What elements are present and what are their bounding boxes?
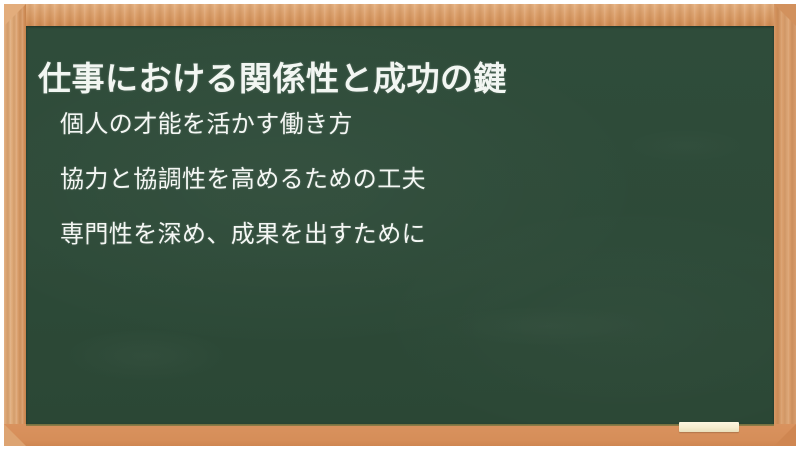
frame-right-rail xyxy=(774,4,796,446)
list-item: 協力と協調性を高めるための工夫 xyxy=(60,165,426,195)
frame-left-rail xyxy=(4,4,26,446)
list-item: 個人の才能を活かす働き方 xyxy=(60,110,426,140)
frame-corner-bottom-left xyxy=(4,424,26,446)
frame-top-rail xyxy=(4,4,796,26)
chalkboard-slide: 仕事における関係性と成功の鍵 個人の才能を活かす働き方 協力と協調性を高めるため… xyxy=(0,0,800,450)
frame-corner-top-left xyxy=(4,4,26,26)
frame-corner-bottom-right xyxy=(774,424,796,446)
wooden-frame: 仕事における関係性と成功の鍵 個人の才能を活かす働き方 協力と協調性を高めるため… xyxy=(4,4,796,446)
chalk-ledge xyxy=(4,424,796,446)
chalk-stick xyxy=(679,422,739,432)
list-item: 専門性を深め、成果を出すために xyxy=(60,220,426,250)
bullet-list: 個人の才能を活かす働き方 協力と協調性を高めるための工夫 専門性を深め、成果を出… xyxy=(60,110,426,275)
page-title: 仕事における関係性と成功の鍵 xyxy=(38,57,507,101)
chalkboard-surface: 仕事における関係性と成功の鍵 個人の才能を活かす働き方 協力と協調性を高めるため… xyxy=(26,26,774,424)
frame-corner-top-right xyxy=(774,4,796,26)
ledge-edge-line xyxy=(26,424,774,426)
